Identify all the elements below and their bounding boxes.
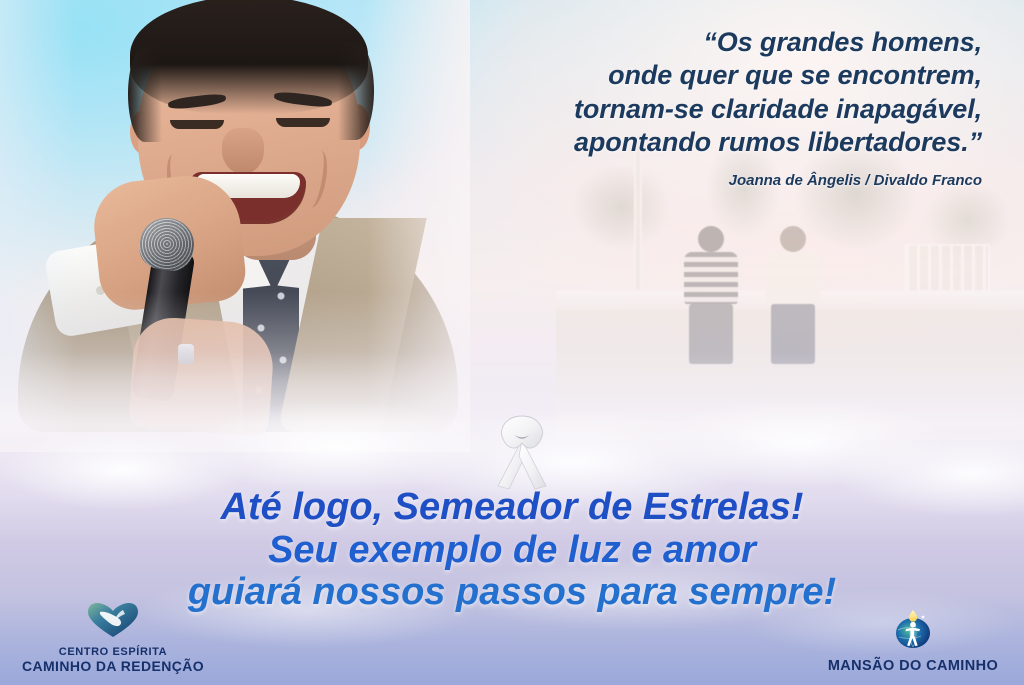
logo-left-line-2: CAMINHO DA REDENÇÃO	[8, 658, 218, 675]
quote-line-3: tornam-se claridade inapagável,	[362, 93, 982, 126]
logo-mansao-do-caminho-text: MANSÃO DO CAMINHO	[808, 658, 1018, 675]
quote-attribution: Joanna de Ângelis / Divaldo Franco	[362, 172, 982, 189]
memorial-poster: “Os grandes homens, onde quer que se enc…	[0, 0, 1024, 685]
heart-clasped-hands-icon	[8, 602, 218, 643]
logo-right-line-2: MANSÃO DO CAMINHO	[808, 658, 1018, 675]
globe-figure-flame-icon	[808, 608, 1018, 655]
mourning-ribbon-icon	[489, 412, 555, 490]
background-figure-striped-shirt	[684, 226, 738, 364]
quote-line-4: apontando rumos libertadores.”	[362, 126, 982, 159]
message-line-1: Até logo, Semeador de Estrelas!	[0, 486, 1024, 529]
background-figure-white-shirt	[766, 226, 820, 364]
farewell-message: Até logo, Semeador de Estrelas! Seu exem…	[0, 486, 1024, 614]
logo-centro-espirita-text: CENTRO ESPÍRITA CAMINHO DA REDENÇÃO	[8, 646, 218, 675]
logo-left-line-1: CENTRO ESPÍRITA	[8, 646, 218, 659]
message-line-2: Seu exemplo de luz e amor	[0, 529, 1024, 572]
logo-mansao-do-caminho: MANSÃO DO CAMINHO	[808, 608, 1018, 675]
quote-line-2: onde quer que se encontrem,	[362, 59, 982, 92]
logo-centro-espirita: CENTRO ESPÍRITA CAMINHO DA REDENÇÃO	[8, 602, 218, 675]
portrait-bottom-fade	[0, 292, 470, 452]
quote-line-1: “Os grandes homens,	[362, 26, 982, 59]
quote-text: “Os grandes homens, onde quer que se enc…	[362, 26, 982, 160]
